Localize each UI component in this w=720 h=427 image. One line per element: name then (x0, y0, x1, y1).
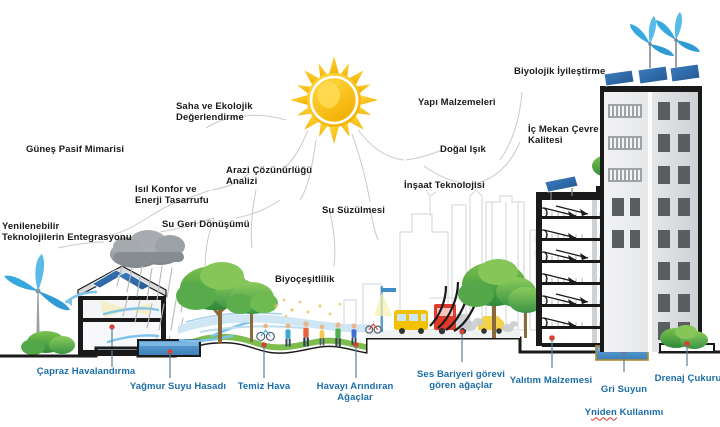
drainage-pit (660, 325, 714, 366)
label-su-suzulmesi: Su Süzülmesi (322, 205, 385, 216)
balcony-railings (608, 104, 642, 182)
marker-stem-road (461, 332, 462, 362)
label-yenilenebilir-teknolojilerin-entegrasyonu: Yenilenebilir Teknolojilerin Entegrasyon… (2, 221, 132, 243)
label-su-geri-donusumu: Su Geri Dönüşümü (162, 219, 250, 230)
shrub-left (21, 331, 75, 355)
label-gunes-pasif-mimarisi: Güneş Pasif Mimarisi (26, 144, 124, 155)
greywater-line2-misspelling: niden (591, 407, 617, 418)
label-dogal-isik: Doğal Işık (440, 144, 486, 155)
label-drenaj-cukuru: Drenaj Çukuru (643, 373, 720, 384)
greywater-line1: Gri Suyun (601, 384, 647, 395)
greywater-line2-post: Kullanımı (617, 407, 663, 418)
label-ic-mekan-cevre-kalitesi: İç Mekan Çevre Kalitesi (528, 124, 599, 146)
label-capraz-havalandirma: Çapraz Havalandırma (16, 366, 156, 377)
street-lamp (374, 286, 396, 332)
label-saha-ve-ekolojik-degerlendirme: Saha ve Ekolojik Değerlendirme (176, 101, 253, 123)
sun-icon (275, 41, 394, 160)
roof-wind-turbines (630, 12, 700, 68)
label-havayi-arindiran-agaclar: Havayı Arındıran Ağaçlar (300, 381, 410, 403)
label-isil-konfor-ve-enerji-tasarrufu: Isıl Konfor ve Enerji Tasarrufu (135, 184, 209, 206)
label-biyolojik-iyilestirme: Biyolojik İyileştirme (514, 66, 605, 77)
roof-solar-panels (604, 64, 700, 86)
label-yapi-malzemeleri: Yapı Malzemeleri (418, 97, 496, 108)
label-biyocesitlilik: Biyoçeşitlilik (275, 274, 334, 285)
infographic-canvas: Güneş Pasif Mimarisi Yenilenebilir Tekno… (0, 0, 720, 427)
label-temiz-hava: Temiz Hava (219, 381, 309, 392)
pollinators (274, 299, 341, 318)
label-arazi-cozunurlugu-analizi: Arazi Çözünürlüğü Analizi (226, 165, 312, 187)
label-insaat-teknolojisi: İnşaat Teknolojisi (404, 180, 485, 191)
high-rise-building (600, 12, 702, 352)
